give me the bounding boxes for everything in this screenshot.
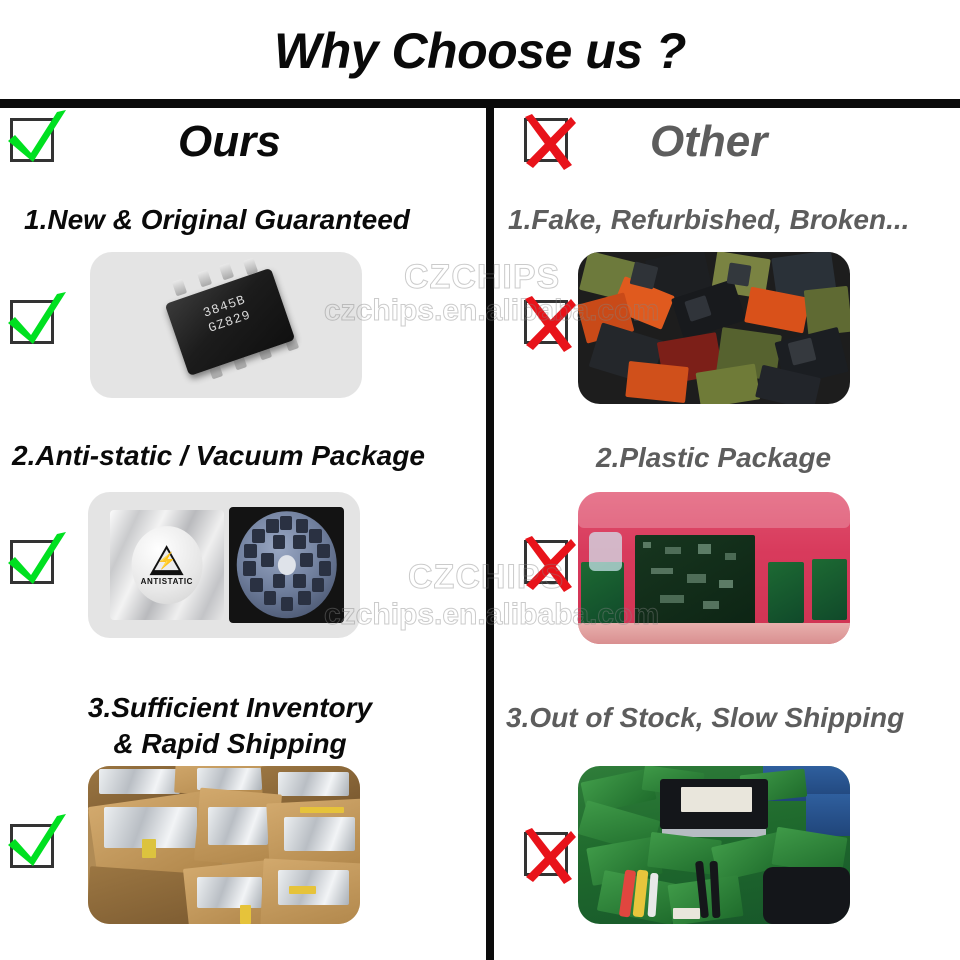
- photo-other-1: [578, 252, 850, 404]
- column-heading-ours: Ours: [178, 112, 281, 172]
- photo-ours-3: [88, 766, 360, 924]
- feature-title-ours-1: 1.New & Original Guaranteed: [24, 202, 410, 238]
- comparison-infographic: Why Choose us ? Ours Other 1.New & Origi…: [0, 0, 960, 960]
- feature-title-ours-3-line1: 3.Sufficient Inventory: [88, 692, 372, 723]
- photo-ours-2: ⚡ ANTISTATIC: [88, 492, 360, 638]
- lightning-bolt-icon: ⚡: [157, 554, 177, 570]
- page-title: Why Choose us ?: [0, 22, 960, 80]
- feature-title-ours-3-line2: & Rapid Shipping: [113, 728, 346, 759]
- other-header-checkbox: [524, 118, 568, 162]
- header-divider-horizontal: [0, 99, 960, 108]
- other-row2-checkbox: [524, 540, 568, 584]
- other-row1-checkbox: [524, 300, 568, 344]
- component-reel: [229, 507, 343, 624]
- ours-row2-checkbox: [10, 540, 54, 584]
- ours-row3-checkbox: [10, 824, 54, 868]
- feature-title-other-1: 1.Fake, Refurbished, Broken...: [508, 202, 909, 238]
- column-heading-other: Other: [650, 112, 767, 172]
- photo-other-3: [578, 766, 850, 924]
- ours-header-checkbox: [10, 118, 54, 162]
- photo-other-2: [578, 492, 850, 644]
- feature-title-ours-2: 2.Anti-static / Vacuum Package: [12, 438, 425, 474]
- feature-title-ours-3: 3.Sufficient Inventory & Rapid Shipping: [40, 690, 420, 762]
- feature-title-other-3: 3.Out of Stock, Slow Shipping: [506, 700, 904, 736]
- antistatic-label: ANTISTATIC: [131, 577, 202, 586]
- column-divider-vertical: [486, 108, 494, 960]
- other-row3-checkbox: [524, 832, 568, 876]
- photo-ours-1: 3845B GZ829: [90, 252, 362, 398]
- antistatic-bag: ⚡ ANTISTATIC: [110, 510, 224, 621]
- watermark-brand: CZCHIPS: [404, 258, 560, 297]
- ours-row1-checkbox: [10, 300, 54, 344]
- feature-title-other-2: 2.Plastic Package: [596, 440, 831, 476]
